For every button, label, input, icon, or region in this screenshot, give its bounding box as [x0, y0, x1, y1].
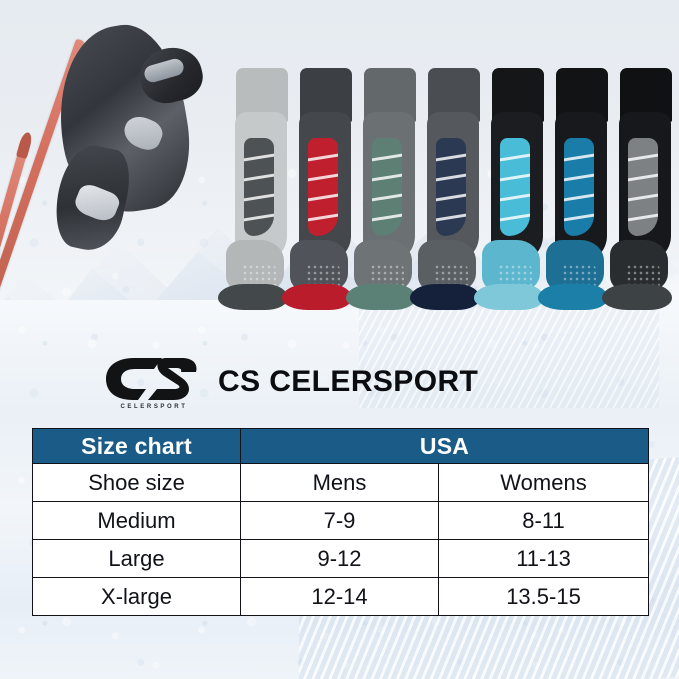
table-subheader-row: Shoe size Mens Womens: [33, 464, 649, 502]
row-mens-value: 12-14: [241, 578, 439, 616]
sock-shin-panel: [628, 138, 658, 236]
sock-toe: [474, 284, 544, 310]
row-size-label: X-large: [33, 578, 241, 616]
row-size-label: Large: [33, 540, 241, 578]
subheader-shoe-size: Shoe size: [33, 464, 241, 502]
row-womens-value: 13.5-15: [439, 578, 649, 616]
sock-foot: [346, 248, 420, 310]
brand-logo-row: CELERSPORT CS CELERSPORT: [104, 355, 574, 409]
sock-lineup: [222, 60, 662, 310]
subheader-womens: Womens: [439, 464, 649, 502]
sock-foot: [410, 248, 484, 310]
cs-monogram-icon: CELERSPORT: [104, 356, 200, 408]
row-womens-value: 11-13: [439, 540, 649, 578]
skier-figure: [18, 18, 238, 328]
sock-shin-panel: [308, 138, 338, 236]
header-usa: USA: [241, 429, 649, 464]
ski-tip-left: [16, 131, 34, 159]
sock-shin-panel: [564, 138, 594, 236]
table-row: Medium 7-9 8-11: [33, 502, 649, 540]
size-chart-table: Size chart USA Shoe size Mens Womens Med…: [32, 428, 649, 616]
subheader-mens: Mens: [241, 464, 439, 502]
sock-shin-panel: [436, 138, 466, 236]
row-mens-value: 9-12: [241, 540, 439, 578]
sock-foot: [282, 248, 356, 310]
sock-toe: [282, 284, 352, 310]
sock-foot: [218, 248, 292, 310]
row-size-label: Medium: [33, 502, 241, 540]
sock-foot: [474, 248, 548, 310]
row-womens-value: 8-11: [439, 502, 649, 540]
sock-shin-panel: [500, 138, 530, 236]
sock-item-7: [606, 60, 679, 310]
brand-wordmark: CS CELERSPORT: [218, 367, 478, 397]
sock-toe: [410, 284, 480, 310]
sock-toe: [602, 284, 672, 310]
product-size-chart-image: CELERSPORT CS CELERSPORT Size chart USA …: [0, 0, 679, 679]
table-row: X-large 12-14 13.5-15: [33, 578, 649, 616]
header-size-chart: Size chart: [33, 429, 241, 464]
sock-shin-panel: [372, 138, 402, 236]
sock-toe: [346, 284, 416, 310]
size-chart: Size chart USA Shoe size Mens Womens Med…: [32, 428, 648, 616]
table-header-row: Size chart USA: [33, 429, 649, 464]
row-mens-value: 7-9: [241, 502, 439, 540]
sock-foot: [602, 248, 676, 310]
sock-toe: [218, 284, 288, 310]
sock-shin-panel: [244, 138, 274, 236]
monogram-subtext: CELERSPORT: [108, 404, 200, 410]
sock-foot: [538, 248, 612, 310]
sock-toe: [538, 284, 608, 310]
table-row: Large 9-12 11-13: [33, 540, 649, 578]
